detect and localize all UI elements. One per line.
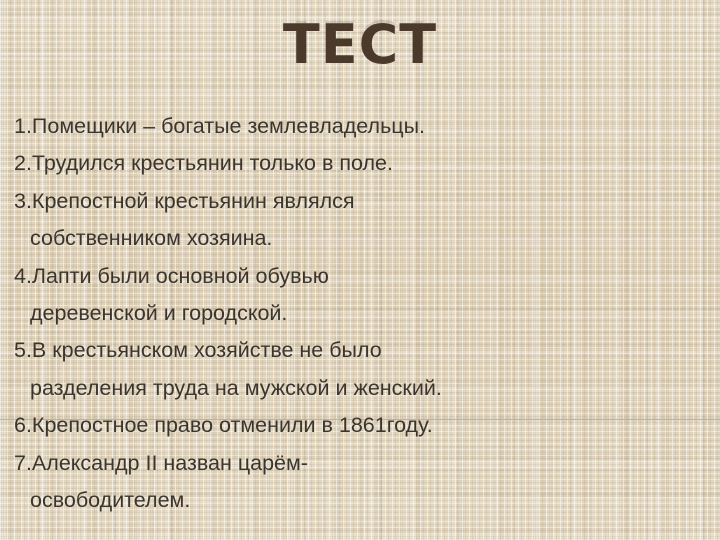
list-item-continuation: собственником хозяина.: [14, 220, 704, 257]
list-item: 5.В крестьянском хозяйстве не было: [14, 332, 704, 369]
list-item: 7.Александр II назван царём-: [14, 445, 704, 482]
list-item: 1.Помещики – богатые землевладельцы.: [14, 108, 704, 145]
list-item: 3.Крепостной крестьянин являлся: [14, 183, 704, 220]
list-item-continuation: освободителем.: [14, 482, 704, 519]
list-item: 6.Крепостное право отменили в 1861году.: [14, 407, 704, 444]
page-title: ТЕСТ: [0, 14, 720, 76]
slide-title-block: ТЕСТ ТЕСТ: [0, 14, 720, 114]
slide-canvas: ТЕСТ ТЕСТ 1.Помещики – богатые землевлад…: [0, 0, 720, 540]
list-item-continuation: деревенской и городской.: [14, 295, 704, 332]
list-item-continuation: разделения труда на мужской и женский.: [14, 370, 704, 407]
list-item: 2.Трудился крестьянин только в поле.: [14, 145, 704, 182]
list-item: 4.Лапти были основной обувью: [14, 258, 704, 295]
test-question-list: 1.Помещики – богатые землевладельцы. 2.Т…: [14, 108, 704, 519]
